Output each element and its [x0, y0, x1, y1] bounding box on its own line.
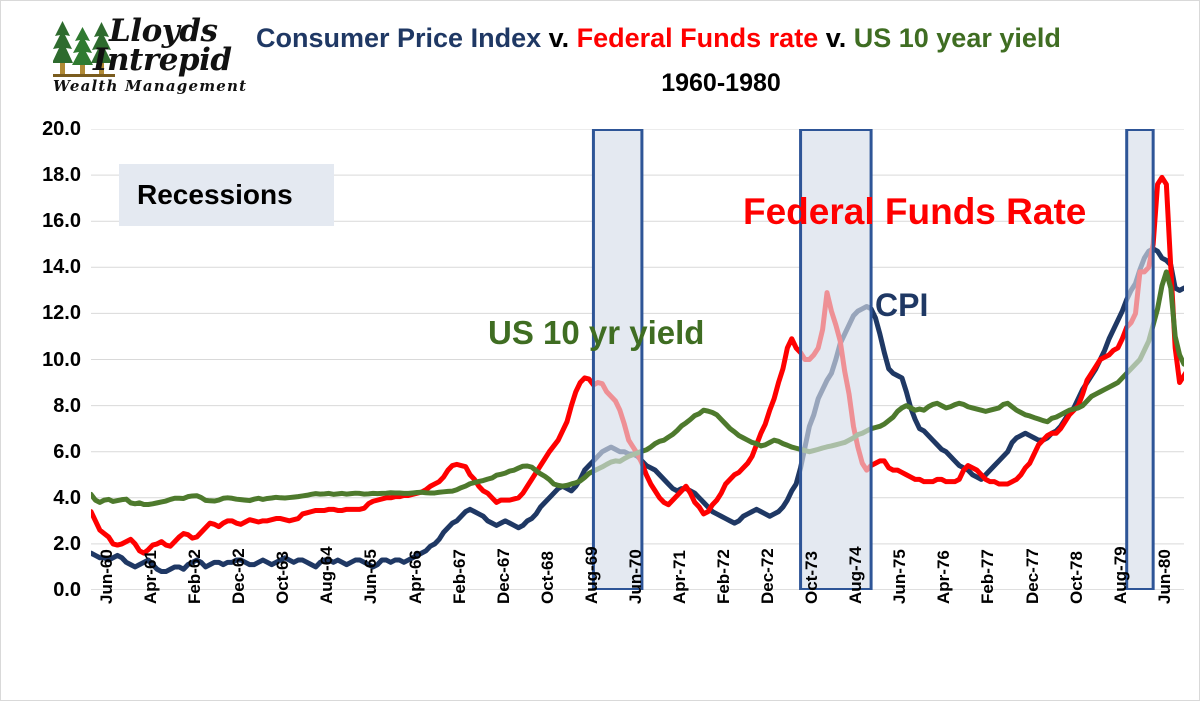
- y-axis-tick-label: 12.0: [5, 303, 81, 323]
- x-axis-tick-label: Jun-80: [1156, 549, 1173, 604]
- annotation-cpi: CPI: [875, 289, 928, 321]
- chart-subtitle: 1960-1980: [256, 71, 1186, 96]
- x-axis-tick-label: Apr-76: [935, 550, 952, 604]
- x-axis-tick-label: Dec-72: [759, 548, 776, 604]
- y-axis-tick-label: 18.0: [5, 165, 81, 185]
- x-axis-tick-label: Aug-64: [318, 546, 335, 604]
- recessions-legend-label: Recessions: [137, 179, 293, 211]
- x-axis-tick-label: Jun-75: [891, 549, 908, 604]
- y-axis-tick-label: 0.0: [5, 580, 81, 600]
- annotation-federal-funds-rate: Federal Funds Rate: [743, 193, 1086, 230]
- x-axis-tick-label: Dec-62: [230, 548, 247, 604]
- logo-line-3: Wealth Management: [53, 77, 247, 95]
- chart-title: Consumer Price Index v. Federal Funds ra…: [256, 25, 1186, 52]
- title-part-cpi: Consumer Price Index: [256, 23, 541, 53]
- x-axis-tick-label: Apr-66: [407, 550, 424, 604]
- recessions-legend: Recessions: [119, 164, 334, 226]
- x-axis-tick-label: Dec-77: [1024, 548, 1041, 604]
- x-axis-tick-label: Oct-68: [539, 551, 556, 604]
- x-axis-tick-label: Oct-78: [1068, 551, 1085, 604]
- title-separator-2: v.: [818, 23, 854, 53]
- x-axis-tick-label: Jun-70: [627, 549, 644, 604]
- y-axis-tick-label: 6.0: [5, 442, 81, 462]
- x-axis-tick-label: Jun-65: [362, 549, 379, 604]
- y-axis-tick-label: 20.0: [5, 119, 81, 139]
- x-axis-tick-label: Feb-62: [186, 549, 203, 604]
- x-axis-tick-label: Feb-72: [715, 549, 732, 604]
- x-axis-tick-label: Aug-69: [583, 546, 600, 604]
- x-axis-tick-label: Oct-73: [803, 551, 820, 604]
- x-axis-tick-label: Feb-77: [979, 549, 996, 604]
- annotation-us-10yr-yield: US 10 yr yield: [488, 316, 704, 349]
- x-axis-tick-label: Apr-71: [671, 550, 688, 604]
- logo-line-2: Intrepid: [93, 42, 232, 78]
- x-axis-tick-label: Aug-74: [847, 546, 864, 604]
- x-axis-tick-label: Dec-67: [495, 548, 512, 604]
- company-logo: Lloyds Intrepid Wealth Management: [47, 9, 267, 101]
- x-axis-tick-label: Feb-67: [451, 549, 468, 604]
- y-axis-tick-label: 14.0: [5, 257, 81, 277]
- x-axis-tick-label: Aug-79: [1112, 546, 1129, 604]
- y-axis-tick-label: 16.0: [5, 211, 81, 231]
- x-axis-tick-label: Apr-61: [142, 550, 159, 604]
- title-part-ten-year: US 10 year yield: [854, 23, 1061, 53]
- title-separator-1: v.: [541, 23, 577, 53]
- x-axis-tick-label: Jun-60: [98, 549, 115, 604]
- y-axis-tick-label: 4.0: [5, 488, 81, 508]
- y-axis-tick-label: 8.0: [5, 396, 81, 416]
- y-axis-tick-label: 10.0: [5, 350, 81, 370]
- y-axis-tick-label: 2.0: [5, 534, 81, 554]
- title-part-ffr: Federal Funds rate: [577, 23, 819, 53]
- chart-card: Lloyds Intrepid Wealth Management Consum…: [0, 0, 1200, 701]
- x-axis-tick-label: Oct-63: [274, 551, 291, 604]
